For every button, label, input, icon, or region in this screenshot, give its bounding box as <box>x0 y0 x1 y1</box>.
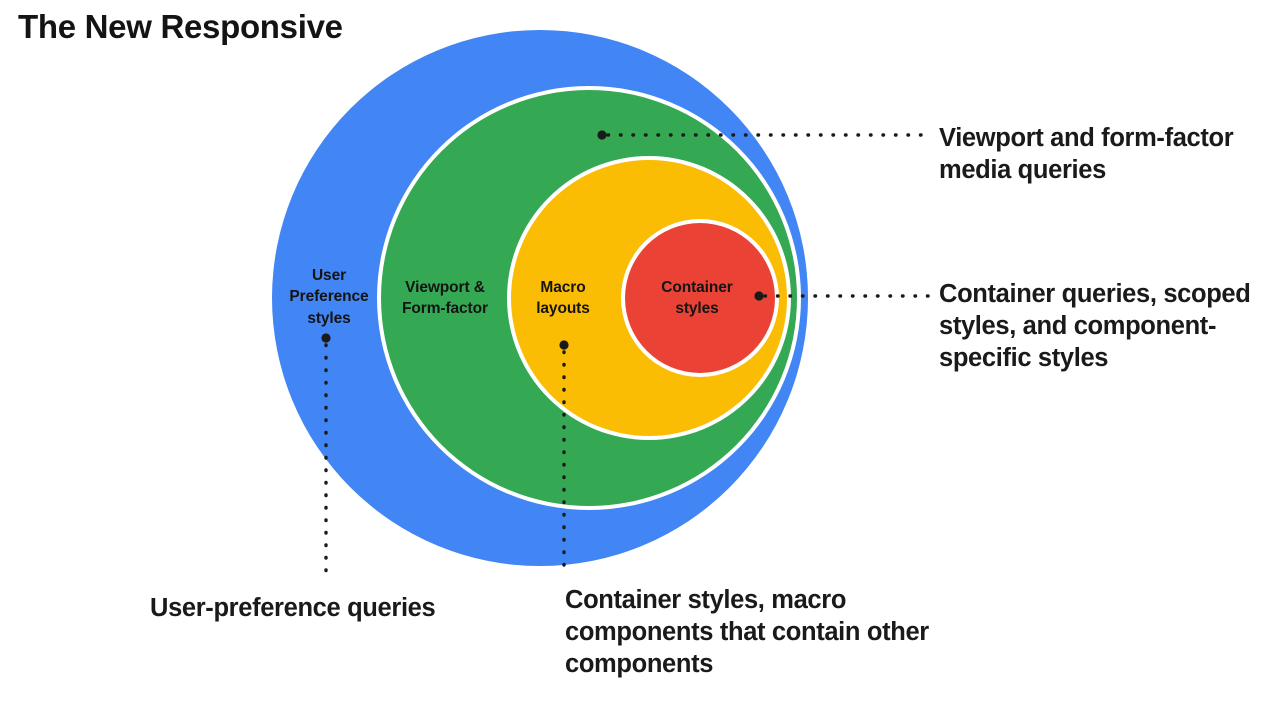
callout-viewport-media-queries: Viewport and form-factor media queries <box>939 122 1264 186</box>
ring-label-user-preference-line1: User <box>277 265 381 286</box>
ring-label-viewport-form-factor-line2: Form-factor <box>383 298 507 319</box>
ring-label-macro-layouts-line1: Macro <box>521 277 605 298</box>
ring-label-container-styles-line1: Container <box>638 277 756 298</box>
ring-label-viewport-form-factor: Viewport & Form-factor <box>383 277 507 320</box>
ring-label-macro-layouts: Macro layouts <box>521 277 605 320</box>
callout-container-queries: Container queries, scoped styles, and co… <box>939 278 1269 374</box>
leader-dot-user-preference <box>321 333 330 342</box>
callout-macro-components: Container styles, macro components that … <box>565 584 995 680</box>
ring-label-user-preference: User Preference styles <box>277 265 381 329</box>
leader-dot-viewport <box>597 130 606 139</box>
slide-canvas: The New Responsive User Preference style… <box>0 0 1280 707</box>
leader-dot-macro-layouts <box>559 340 568 349</box>
ring-label-user-preference-line2: Preference <box>277 286 381 307</box>
ring-label-container-styles-line2: styles <box>638 298 756 319</box>
ring-label-container-styles: Container styles <box>638 277 756 320</box>
ring-label-macro-layouts-line2: layouts <box>521 298 605 319</box>
ring-label-user-preference-line3: styles <box>277 308 381 329</box>
ring-label-viewport-form-factor-line1: Viewport & <box>383 277 507 298</box>
callout-user-preference-queries: User-preference queries <box>150 592 450 624</box>
